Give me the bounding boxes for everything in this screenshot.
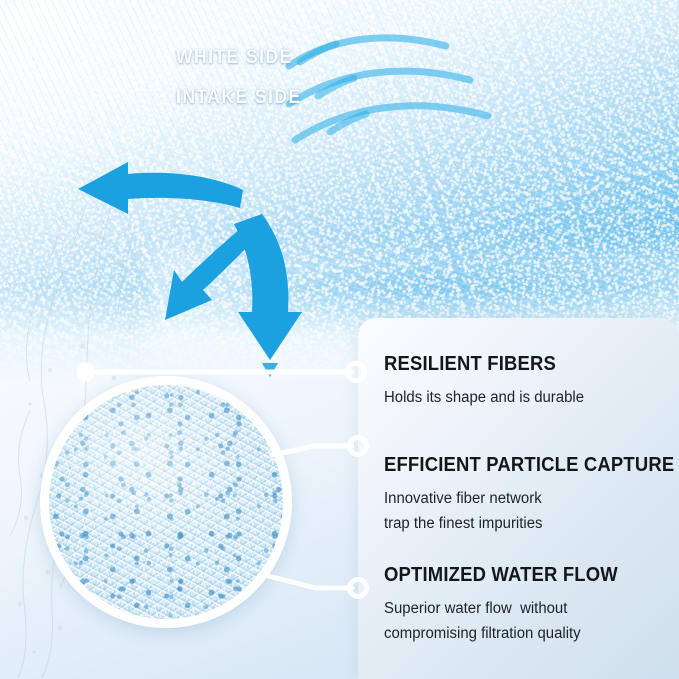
filter-pad-photo bbox=[0, 0, 679, 370]
feature-block-resilient-fibers: RESILIENT FIBERS Holds its shape and is … bbox=[384, 352, 670, 410]
feature-title: EFFICIENT PARTICLE CAPTURE bbox=[384, 453, 641, 477]
feature-line: Innovative fiber network bbox=[384, 486, 661, 511]
label-white-side: WHITE SIDE bbox=[176, 47, 293, 69]
feature-line: trap the finest impurities bbox=[384, 511, 661, 536]
feature-block-efficient-particle-capture: EFFICIENT PARTICLE CAPTURE Innovative fi… bbox=[384, 453, 670, 536]
feature-line: compromising filtration quality bbox=[384, 621, 661, 646]
magnified-fiber-closeup bbox=[40, 376, 292, 628]
feature-title: OPTIMIZED WATER FLOW bbox=[384, 563, 641, 587]
product-infographic: WHITE SIDE INTAKE SIDE RESILIENT FIBERS … bbox=[0, 0, 679, 679]
feature-line: Holds its shape and is durable bbox=[384, 385, 661, 410]
magnifier-sheen bbox=[49, 385, 283, 619]
feature-title: RESILIENT FIBERS bbox=[384, 352, 641, 376]
features-panel: RESILIENT FIBERS Holds its shape and is … bbox=[358, 318, 679, 679]
feature-block-optimized-water-flow: OPTIMIZED WATER FLOW Superior water flow… bbox=[384, 563, 670, 646]
label-intake-side: INTAKE SIDE bbox=[176, 87, 302, 109]
filter-pad-body bbox=[0, 0, 679, 370]
feature-line: Superior water flow without bbox=[384, 596, 661, 621]
